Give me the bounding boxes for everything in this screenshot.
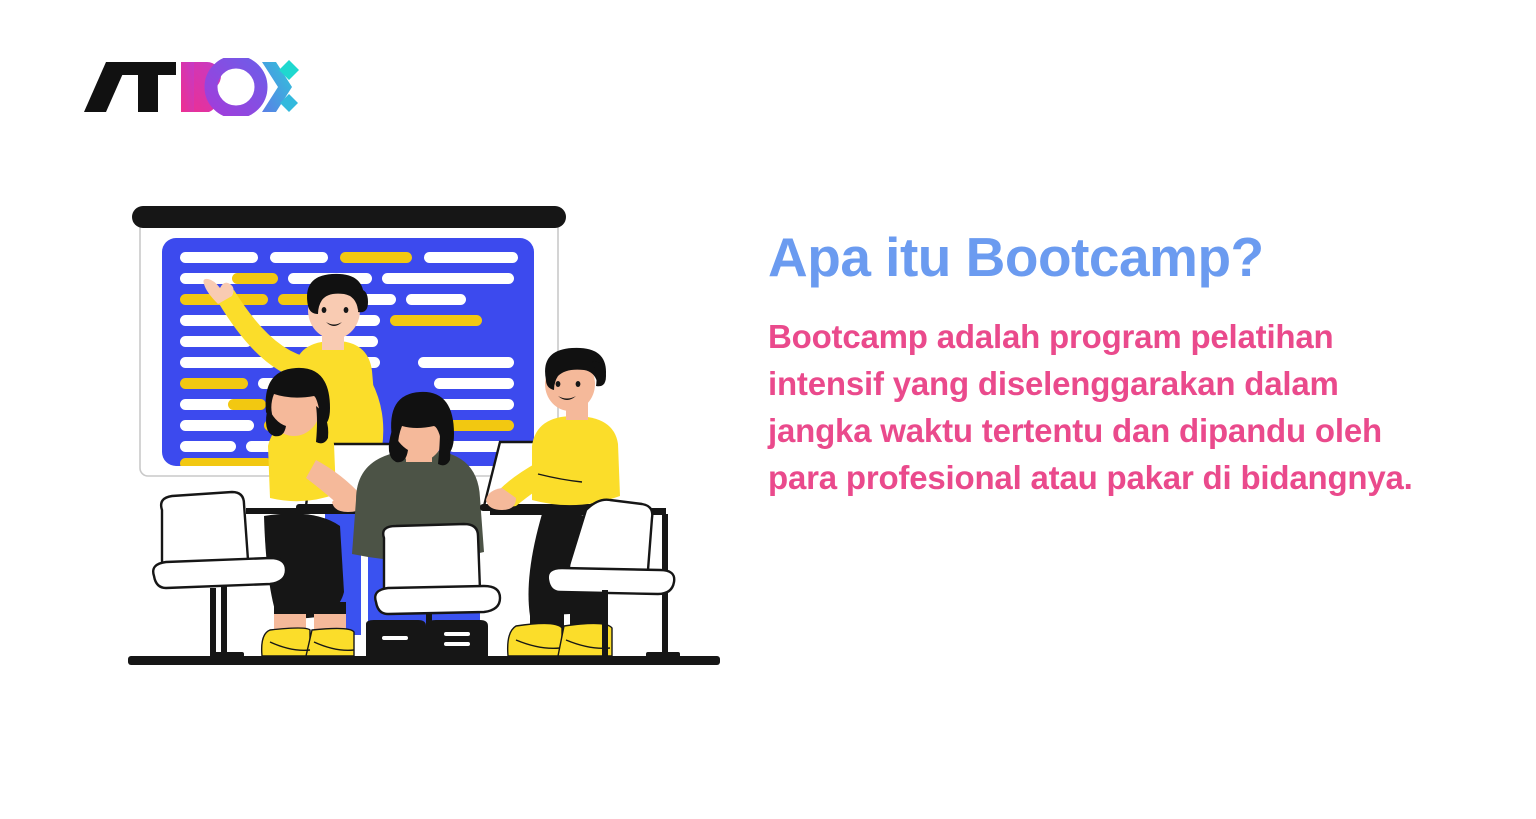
body-paragraph: Bootcamp adalah program pelatihan intens… (768, 314, 1440, 501)
itbox-logo[interactable] (84, 58, 299, 116)
logo-letter-t (120, 62, 176, 112)
text-content-column: Apa itu Bootcamp? Bootcamp adalah progra… (768, 228, 1468, 502)
logo-letter-o (211, 62, 261, 112)
page-title: Apa itu Bootcamp? (768, 228, 1468, 286)
slide-root: Apa itu Bootcamp? Bootcamp adalah progra… (0, 0, 1536, 819)
classroom-bootcamp-illustration (118, 190, 738, 690)
